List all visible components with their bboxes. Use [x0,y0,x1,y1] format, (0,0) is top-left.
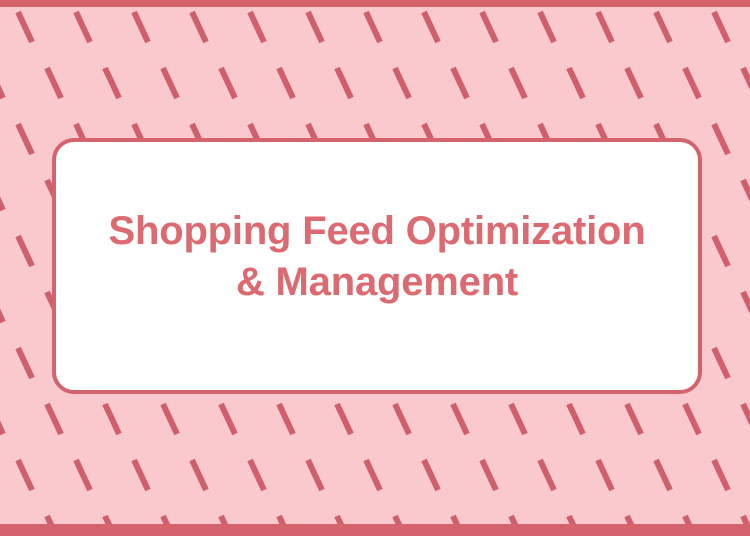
top-edge-rule [0,0,750,7]
title-block: Shopping Feed Optimization & Management [56,206,698,326]
bottom-edge-rule [0,524,750,536]
title-card: Shopping Feed Optimization & Management [52,138,702,394]
slide-canvas: Shopping Feed Optimization & Management [0,0,750,536]
page-title: Shopping Feed Optimization & Management [84,206,670,308]
